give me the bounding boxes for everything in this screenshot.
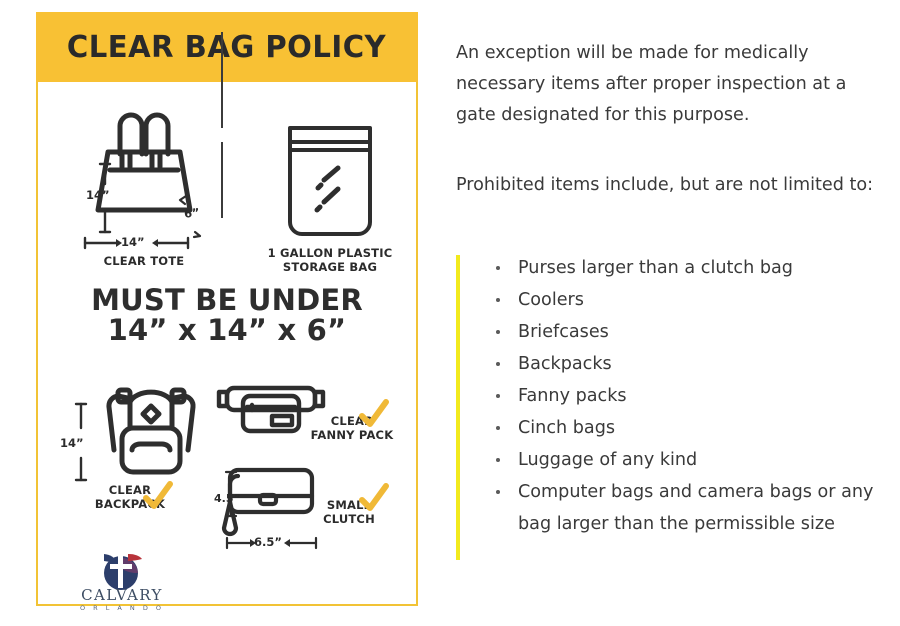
clear-tote-width-label: 14”	[121, 235, 145, 249]
gallon-storage-bag-icon	[280, 122, 380, 240]
size-rule-line1: MUST BE UNDER	[38, 286, 416, 316]
size-rule-line2: 14” x 14” x 6”	[38, 316, 416, 346]
exception-paragraph: An exception will be made for medically …	[456, 38, 876, 131]
calvary-logo-mark-icon	[92, 552, 150, 590]
clear-tote-depth-label: 6”	[183, 205, 200, 221]
policy-text-column: An exception will be made for medically …	[452, 0, 900, 626]
size-rule: MUST BE UNDER 14” x 14” x 6”	[38, 286, 416, 345]
calvary-orlando-logo: CALVARY O R L A N D O	[62, 552, 182, 614]
clear-tote-height-label: 14”	[86, 188, 110, 202]
list-item: Luggage of any kind	[486, 444, 896, 476]
list-item: Computer bags and camera bags or any bag…	[486, 476, 896, 540]
list-item: Backpacks	[486, 348, 896, 380]
list-item: Coolers	[486, 284, 896, 316]
small-clutch-height-label: 4.5”	[214, 492, 241, 505]
prohibited-accent-bar	[456, 255, 460, 560]
prohibited-intro: Prohibited items include, but are not li…	[456, 170, 876, 201]
gallon-storage-bag-caption-line2: STORAGE BAG	[260, 260, 400, 274]
poster-divider-lower	[221, 142, 223, 218]
list-item: Fanny packs	[486, 380, 896, 412]
logo-wordmark: CALVARY	[62, 586, 182, 604]
prohibited-items-list: Purses larger than a clutch bag Coolers …	[486, 252, 896, 540]
clear-fanny-pack-approved-check-icon	[358, 398, 390, 430]
gallon-storage-bag-caption-line1: 1 GALLON PLASTIC	[260, 246, 400, 260]
clear-backpack-height-label: 14”	[60, 436, 84, 450]
list-item: Purses larger than a clutch bag	[486, 252, 896, 284]
small-clutch-approved-check-icon	[358, 482, 390, 514]
small-clutch-width-label: 6.5”	[254, 535, 282, 549]
small-clutch-caption-line2: CLUTCH	[310, 512, 388, 526]
poster-title: CLEAR BAG POLICY	[67, 30, 386, 65]
list-item: Briefcases	[486, 316, 896, 348]
clear-backpack-icon	[102, 376, 200, 480]
poster-header-band: CLEAR BAG POLICY	[36, 12, 418, 82]
clear-tote-caption: CLEAR TOTE	[76, 254, 212, 268]
clear-bag-policy-page: CLEAR BAG POLICY 14”	[0, 0, 900, 626]
clear-fanny-pack-caption-line2: FANNY PACK	[300, 428, 404, 442]
list-item: Cinch bags	[486, 412, 896, 444]
logo-subtitle: O R L A N D O	[62, 604, 182, 612]
clear-backpack-approved-check-icon	[142, 480, 174, 512]
poster-divider-upper	[221, 32, 223, 128]
clear-bag-policy-poster: CLEAR BAG POLICY 14”	[36, 12, 418, 606]
